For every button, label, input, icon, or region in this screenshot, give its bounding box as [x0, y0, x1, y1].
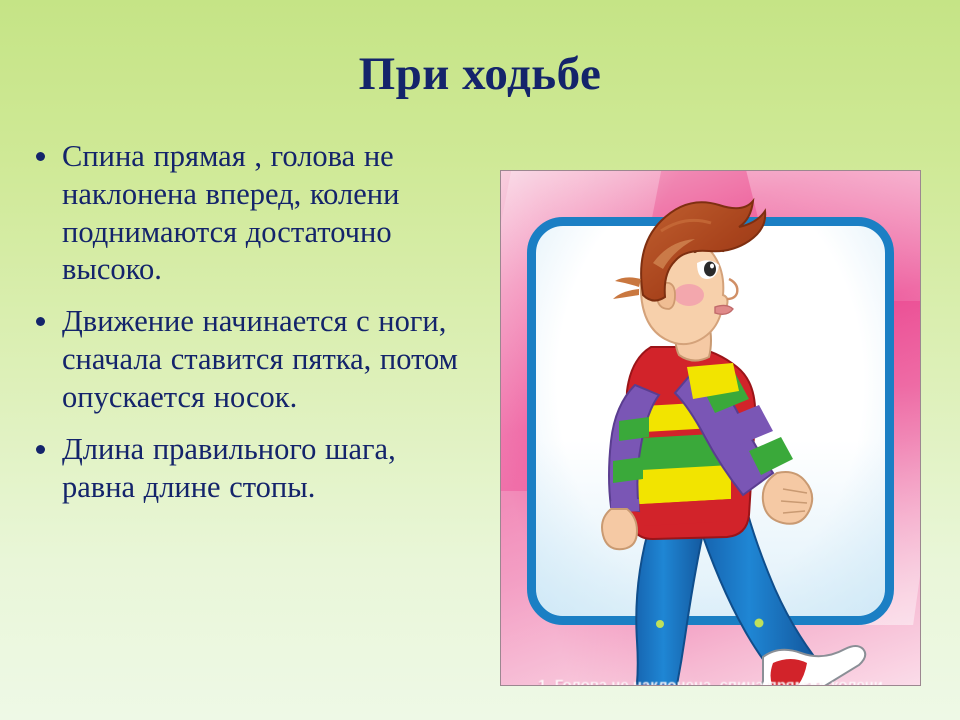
walking-boy-illustration: 1. Голова не наклонена, спина прямая, ко…: [500, 170, 921, 686]
bullet-marker-icon: [36, 303, 62, 326]
bullet-text: Длина правильного шага, равна длине стоп…: [62, 431, 466, 507]
bullet-list: Спина прямая , голова не наклонена впере…: [36, 138, 466, 520]
caption-text: 1. Голова не наклонена, спина прямая, ко…: [538, 677, 883, 685]
list-item: Движение начинается с ноги, сначала став…: [36, 303, 466, 416]
page-title: При ходьбе: [60, 50, 900, 99]
illustration-caption: 1. Голова не наклонена, спина прямая, ко…: [501, 655, 920, 685]
bullet-marker-icon: [36, 431, 62, 454]
illustration-inner-frame: [527, 217, 894, 625]
bullet-text: Спина прямая , голова не наклонена впере…: [62, 138, 466, 289]
frame-gloss: [536, 226, 885, 616]
bullet-marker-icon: [36, 138, 62, 161]
list-item: Спина прямая , голова не наклонена впере…: [36, 138, 466, 289]
bullet-text: Движение начинается с ноги, сначала став…: [62, 303, 466, 416]
list-item: Длина правильного шага, равна длине стоп…: [36, 431, 466, 507]
slide-root: При ходьбе Спина прямая , голова не накл…: [0, 0, 960, 720]
